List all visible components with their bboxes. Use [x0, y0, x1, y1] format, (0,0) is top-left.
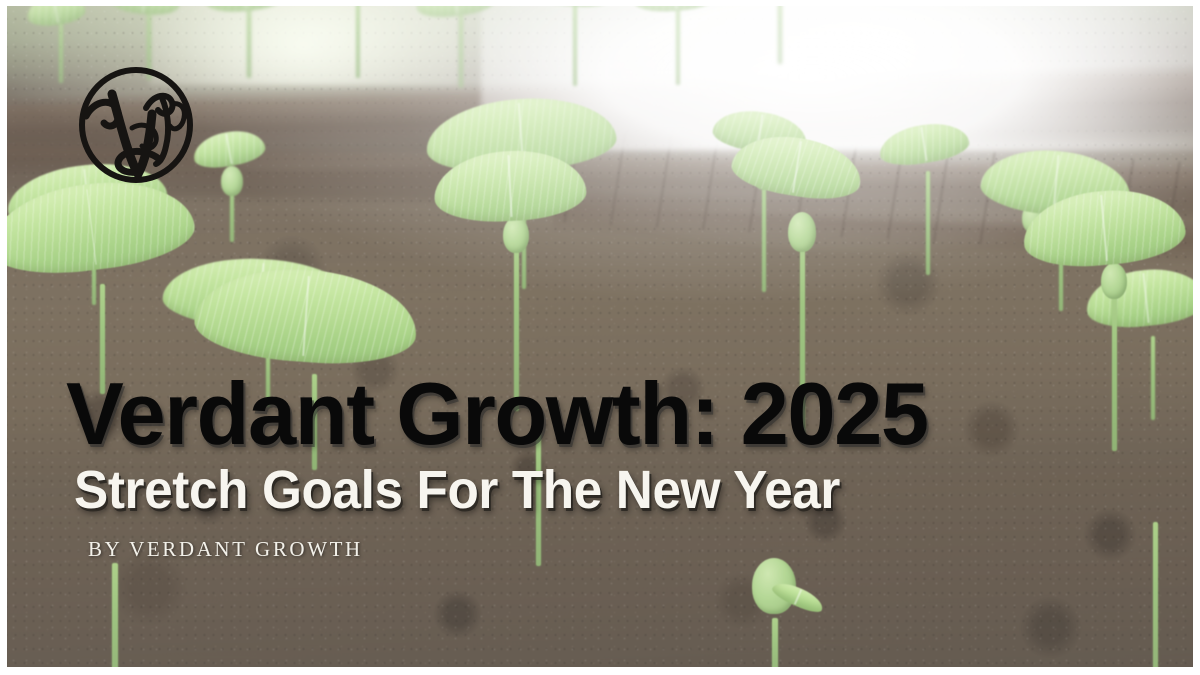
- author-byline: BY VERDANT GROWTH: [88, 537, 941, 562]
- brand-logo[interactable]: [76, 64, 196, 186]
- seedling-far: [636, 6, 720, 85]
- seedling-mid: [885, 125, 971, 275]
- page-subtitle: Stretch Goals For The New Year: [74, 462, 897, 518]
- seedling-foreground: [1039, 191, 1189, 451]
- seedling-mid: [197, 132, 267, 242]
- seedling-foreground: [1146, 522, 1164, 667]
- seedling-far: [209, 6, 289, 78]
- seedling-far: [422, 6, 500, 88]
- hero-banner: Verdant Growth: 2025 Stretch Goals For T…: [0, 0, 1200, 675]
- seedling-foreground: [7, 184, 197, 394]
- hero-text-block: Verdant Growth: 2025 Stretch Goals For T…: [66, 372, 941, 562]
- seedling-far: [529, 6, 621, 86]
- seedling-far: [742, 6, 818, 64]
- page-title: Verdant Growth: 2025: [66, 372, 928, 456]
- seedling-foreground: [719, 548, 829, 667]
- seedling-foreground: [102, 561, 126, 667]
- seedling-far: [315, 6, 401, 78]
